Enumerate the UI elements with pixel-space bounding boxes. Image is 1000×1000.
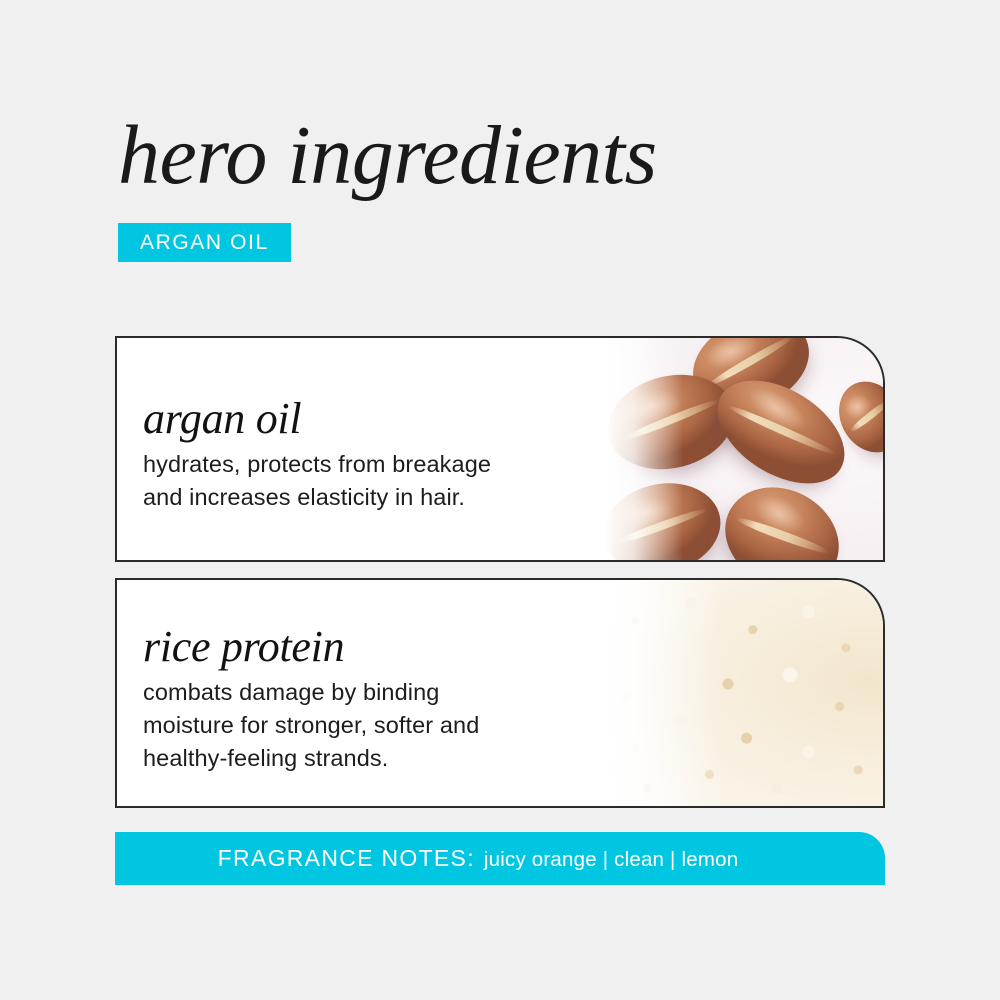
description-line: combats damage by binding — [143, 676, 479, 709]
page-title: hero ingredients — [118, 108, 657, 204]
argan-nuts-scene — [573, 338, 883, 560]
argan-nut-icon — [595, 473, 729, 560]
hero-ingredients-panel: hero ingredients ARGAN OIL argan oil hyd… — [0, 0, 1000, 1000]
rice-protein-image — [573, 580, 883, 806]
fragrance-notes-bar: FRAGRANCE NOTES: juicy orange | clean | … — [115, 832, 885, 885]
ingredient-name: argan oil — [143, 394, 491, 444]
badge-label: ARGAN OIL — [140, 231, 269, 255]
ingredient-text-block: argan oil hydrates, protects from breaka… — [143, 394, 491, 514]
argan-nut-icon — [707, 468, 856, 560]
image-fade-overlay — [573, 580, 723, 806]
description-line: healthy-feeling strands. — [143, 742, 479, 775]
argan-nuts-image — [573, 338, 883, 560]
fragrance-notes-label: FRAGRANCE NOTES: — [218, 845, 475, 872]
description-line: moisture for stronger, softer and — [143, 709, 479, 742]
description-line: hydrates, protects from breakage — [143, 448, 491, 481]
ingredient-card-rice-protein: rice protein combats damage by binding m… — [115, 578, 885, 808]
rice-powder-scene — [573, 580, 883, 806]
ingredient-description: combats damage by binding moisture for s… — [143, 676, 479, 775]
description-line: and increases elasticity in hair. — [143, 481, 491, 514]
fragrance-notes-value: juicy orange | clean | lemon — [484, 848, 738, 872]
fragrance-inner: FRAGRANCE NOTES: juicy orange | clean | … — [218, 845, 739, 872]
ingredient-description: hydrates, protects from breakage and inc… — [143, 448, 491, 514]
ingredient-card-argan-oil: argan oil hydrates, protects from breaka… — [115, 336, 885, 562]
status-badge: ARGAN OIL — [118, 223, 291, 262]
ingredient-text-block: rice protein combats damage by binding m… — [143, 622, 479, 775]
ingredient-name: rice protein — [143, 622, 479, 672]
